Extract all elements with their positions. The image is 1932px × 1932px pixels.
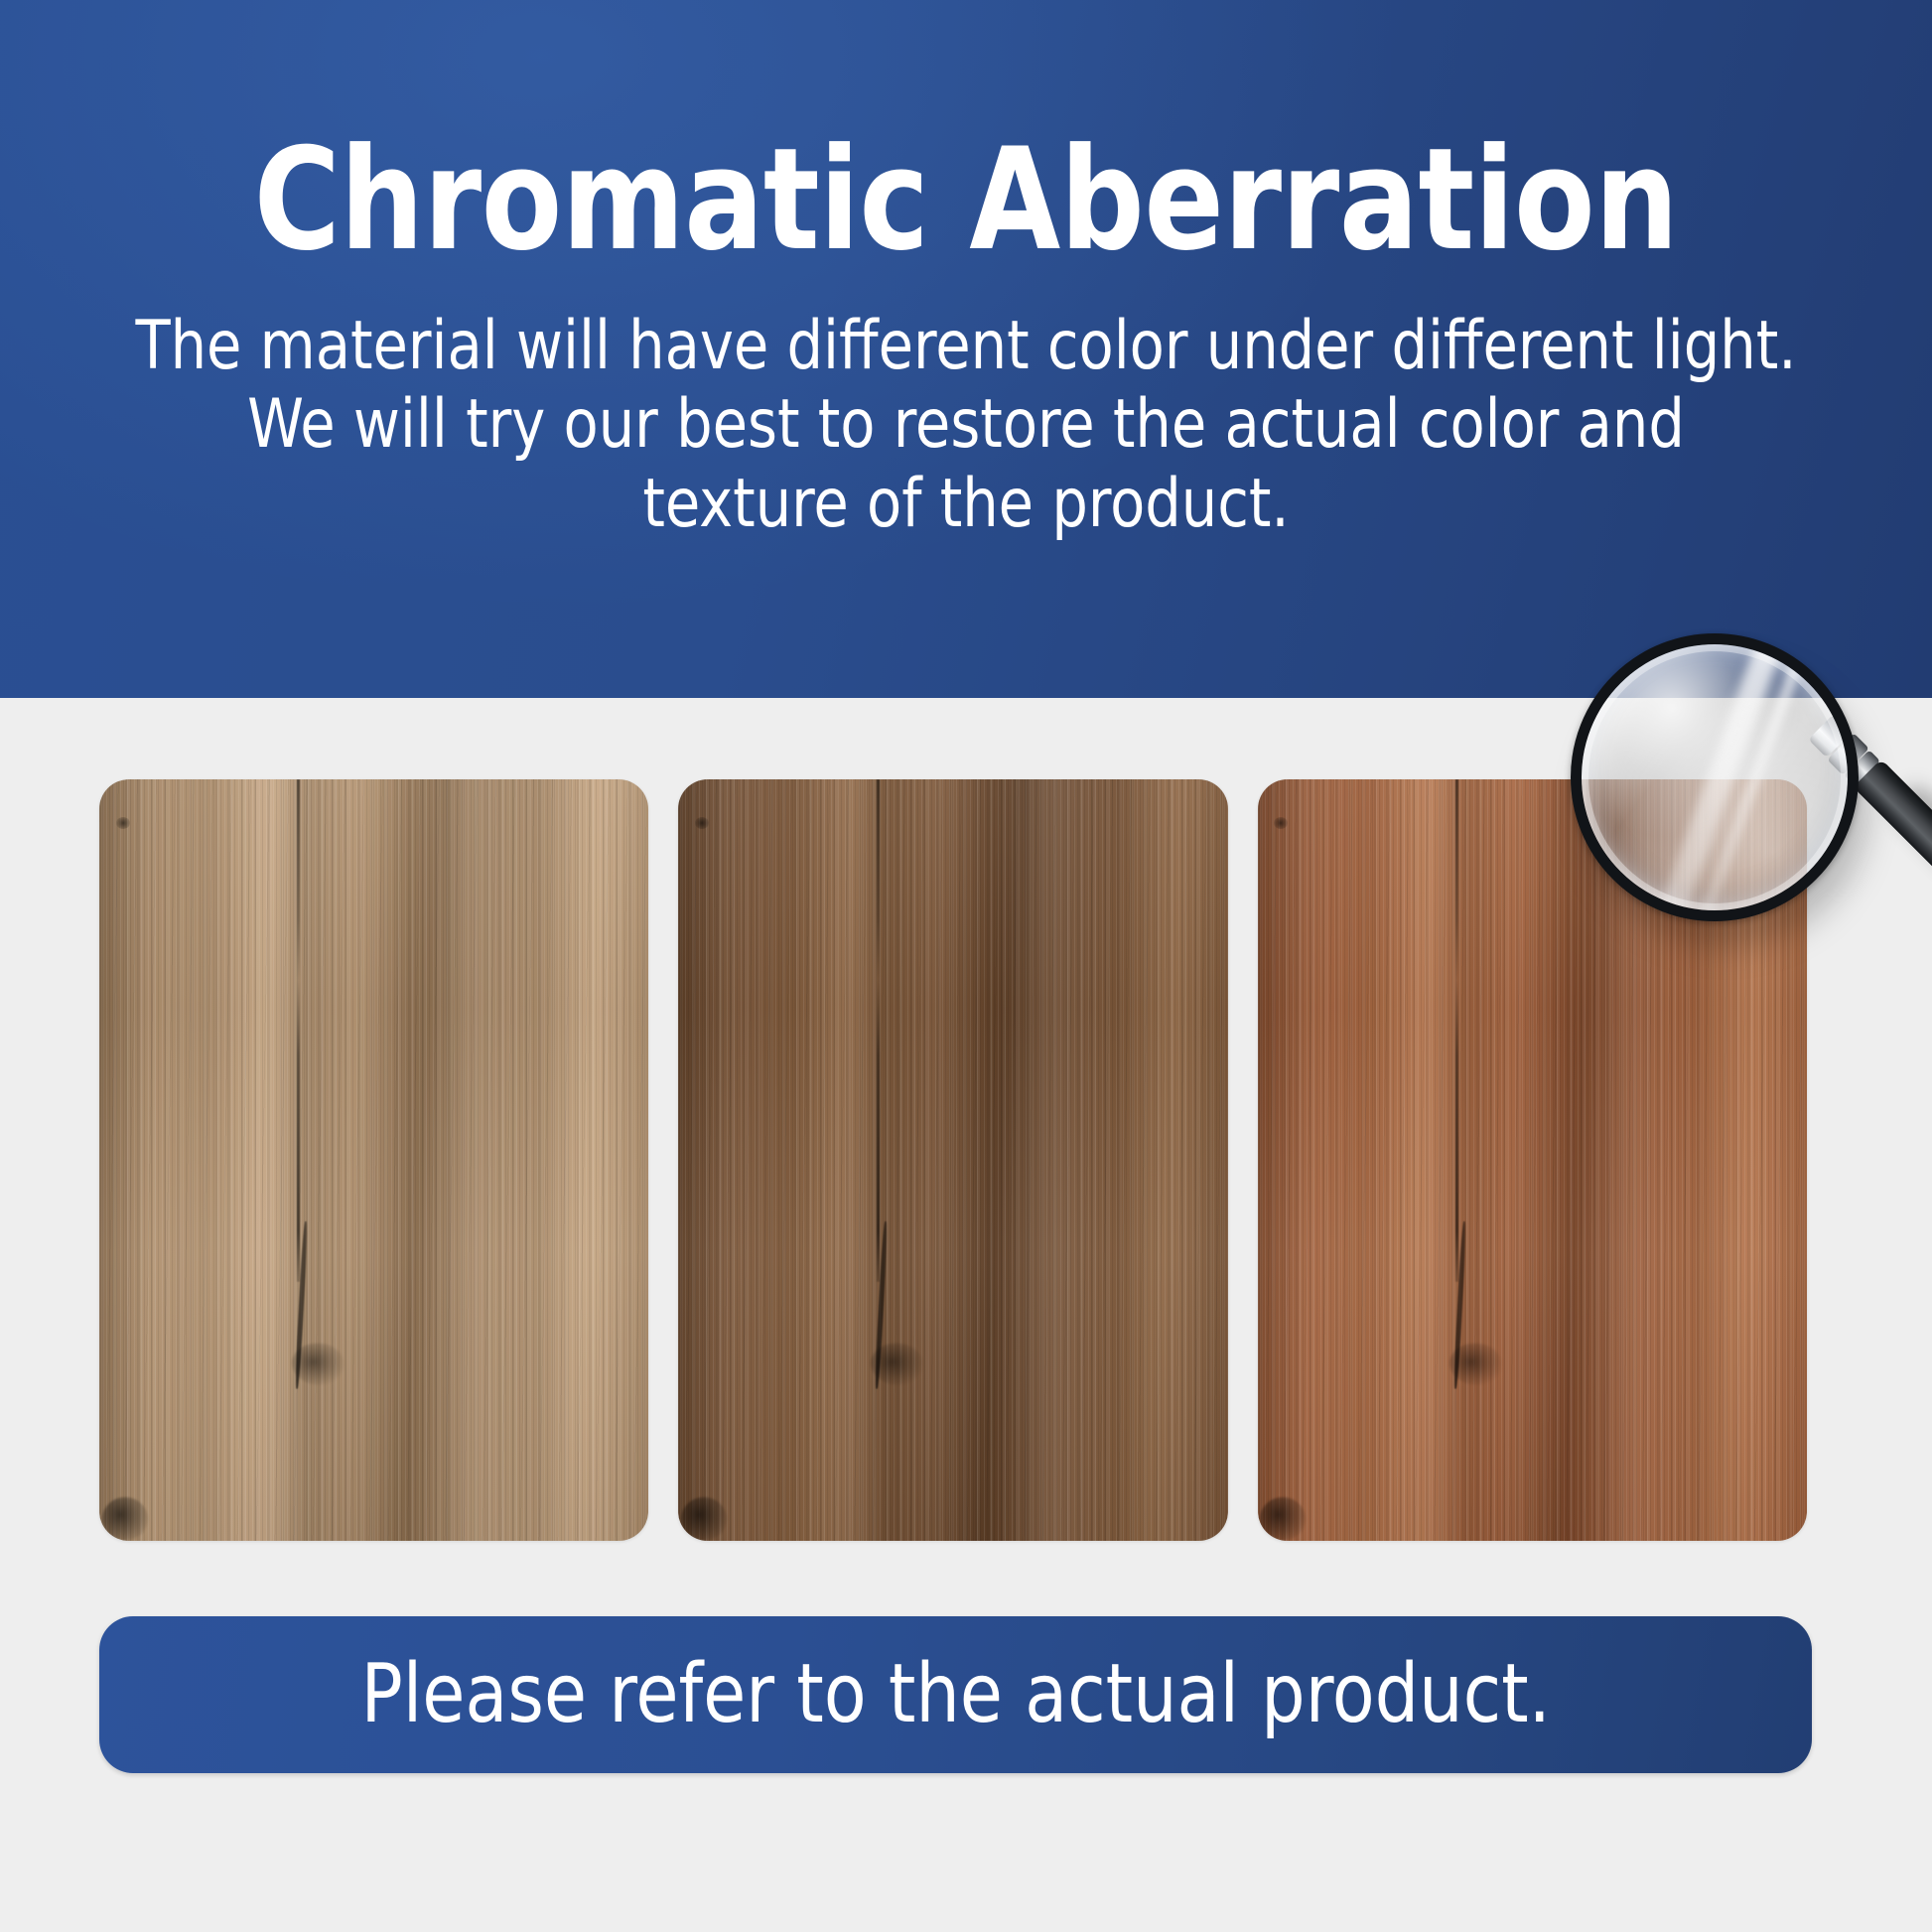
subtitle-line-3: texture of the product. [123,465,1809,544]
magnifier-grip [1854,759,1932,906]
magnifier-ferrule-top [1808,714,1852,758]
magnifier-handle [1805,711,1932,903]
magnifier-handle-shadow [1885,777,1932,906]
refer-to-actual-product-banner[interactable]: Please refer to the actual product. [99,1616,1812,1773]
plank-seam [446,779,448,1541]
subtitle-line-1: The material will have different color u… [123,307,1809,386]
plank-seam [1603,779,1605,1541]
wood-swatch-row [99,779,1807,1541]
wood-grain-texture [678,779,1227,1541]
header-subtitle: The material will have different color u… [123,307,1809,544]
wood-knot [1449,1343,1501,1385]
wood-knot [871,1343,922,1385]
plank-seam [1025,779,1027,1541]
header-content: Chromatic Aberration The material will h… [0,0,1932,543]
wood-grain-texture [99,779,648,1541]
cta-label: Please refer to the actual product. [360,1654,1550,1735]
wood-swatch-walnut-brown [678,779,1227,1541]
wood-swatch-cherry-red [1258,779,1807,1541]
chromatic-aberration-banner: Chromatic Aberration The material will h… [0,0,1932,1932]
wood-knot-edge [102,1497,148,1541]
wood-crack [1455,779,1458,1282]
wood-swatch-light-oak [99,779,648,1541]
wood-crack [297,779,300,1282]
subtitle-line-2: We will try our best to restore the actu… [123,385,1809,465]
wood-knot-small [116,817,130,829]
wood-knot-edge [681,1497,727,1541]
wood-grain-texture [1258,779,1807,1541]
page-title: Chromatic Aberration [132,129,1800,273]
wood-knot [292,1343,344,1385]
magnifier-ferrule-bottom [1844,750,1880,786]
header-banner: Chromatic Aberration The material will h… [0,0,1932,698]
wood-crack [877,779,880,1282]
magnifier-ferrule-mid [1827,733,1868,774]
